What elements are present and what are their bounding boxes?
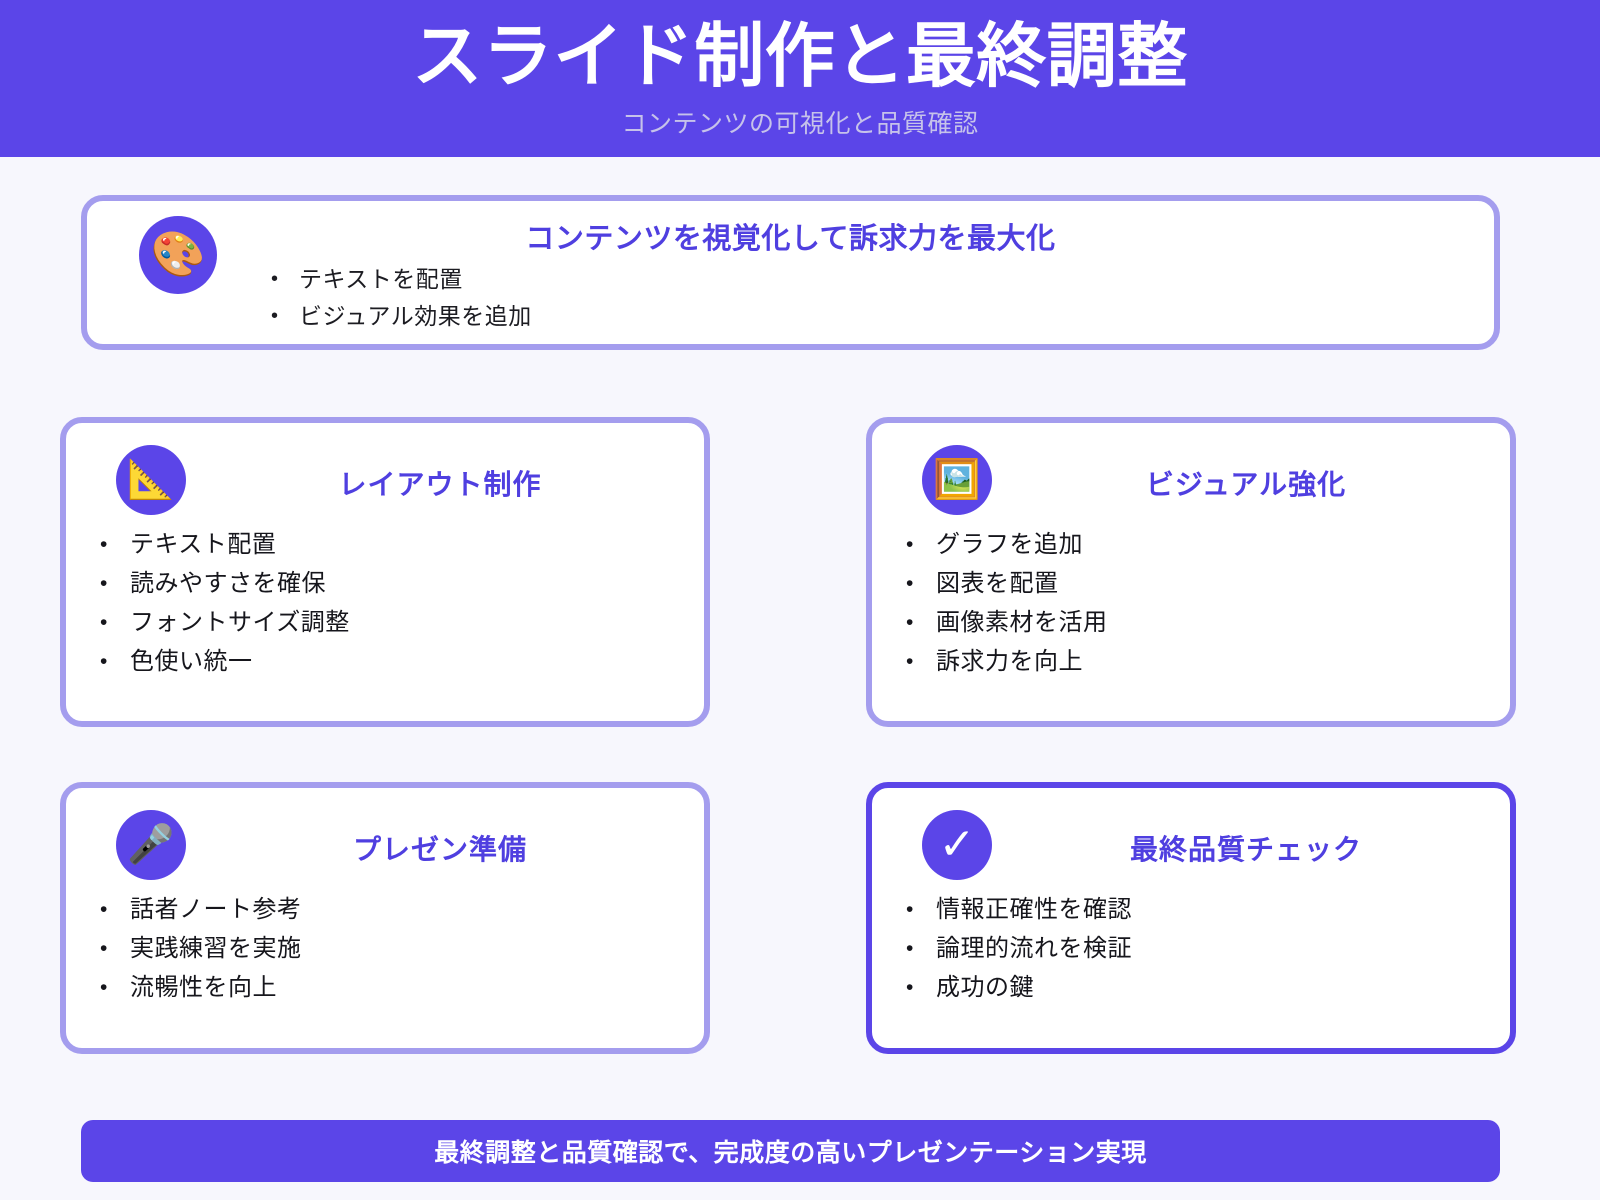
list-item: 読みやすさを確保 <box>92 564 684 603</box>
list-item: 論理的流れを検証 <box>898 929 1490 968</box>
card-presentation-prep-header: 🎤 プレゼン準備 <box>66 788 704 888</box>
page-subtitle: コンテンツの可視化と品質確認 <box>621 104 978 140</box>
list-item: 訴求力を向上 <box>898 642 1490 681</box>
list-item: 流暢性を向上 <box>92 968 684 1007</box>
slide-body: 🎨 コンテンツを視覚化して訴求力を最大化 テキストを配置 ビジュアル効果を追加 … <box>0 157 1600 1200</box>
list-item: 情報正確性を確認 <box>898 890 1490 929</box>
card-layout-design-header: 📐 レイアウト制作 <box>66 423 704 523</box>
check-mark-glyph: ✓ <box>939 823 976 867</box>
card-layout-design[interactable]: 📐 レイアウト制作 テキスト配置 読みやすさを確保 フォントサイズ調整 色使い統… <box>60 417 710 727</box>
summary-card-bullet-list: テキストを配置 ビジュアル効果を追加 <box>267 261 532 335</box>
list-item: テキスト配置 <box>92 525 684 564</box>
card-final-quality-check-header: ✓ 最終品質チェック <box>872 788 1510 888</box>
card-visual-enhancement[interactable]: 🖼️ ビジュアル強化 グラフを追加 図表を配置 画像素材を活用 訴求力を向上 <box>866 417 1516 727</box>
microphone-icon: 🎤 <box>116 810 186 880</box>
summary-card-title: コンテンツを視覚化して訴求力を最大化 <box>87 215 1494 257</box>
card-presentation-prep-title: プレゼン準備 <box>206 828 674 868</box>
card-layout-design-title: レイアウト制作 <box>206 463 674 503</box>
framed-picture-glyph: 🖼️ <box>933 461 980 499</box>
list-item: 実践練習を実施 <box>92 929 684 968</box>
triangular-ruler-glyph: 📐 <box>127 461 174 499</box>
list-item: 話者ノート参考 <box>92 890 684 929</box>
list-item: グラフを追加 <box>898 525 1490 564</box>
list-item: 色使い統一 <box>92 642 684 681</box>
summary-card-header: 🎨 コンテンツを視覚化して訴求力を最大化 <box>87 201 1494 263</box>
framed-picture-icon: 🖼️ <box>922 445 992 515</box>
list-item: 図表を配置 <box>898 564 1490 603</box>
list-item: テキストを配置 <box>267 261 532 298</box>
check-mark-icon: ✓ <box>922 810 992 880</box>
triangular-ruler-icon: 📐 <box>116 445 186 515</box>
page-title: スライド制作と最終調整 <box>412 21 1188 92</box>
list-item: ビジュアル効果を追加 <box>267 298 532 335</box>
slide-root: スライド制作と最終調整 コンテンツの可視化と品質確認 🎨 コンテンツを視覚化して… <box>0 0 1600 1200</box>
summary-card[interactable]: 🎨 コンテンツを視覚化して訴求力を最大化 テキストを配置 ビジュアル効果を追加 <box>81 195 1500 350</box>
card-visual-enhancement-header: 🖼️ ビジュアル強化 <box>872 423 1510 523</box>
card-presentation-prep-bullet-list: 話者ノート参考 実践練習を実施 流暢性を向上 <box>92 890 684 1007</box>
card-final-quality-check[interactable]: ✓ 最終品質チェック 情報正確性を確認 論理的流れを検証 成功の鍵 <box>866 782 1516 1054</box>
card-visual-enhancement-title: ビジュアル強化 <box>1012 463 1480 503</box>
conclusion-banner-text: 最終調整と品質確認で、完成度の高いプレゼンテーション実現 <box>434 1133 1147 1169</box>
card-final-quality-check-bullet-list: 情報正確性を確認 論理的流れを検証 成功の鍵 <box>898 890 1490 1007</box>
slide-header: スライド制作と最終調整 コンテンツの可視化と品質確認 <box>0 0 1600 157</box>
card-visual-enhancement-bullet-list: グラフを追加 図表を配置 画像素材を活用 訴求力を向上 <box>898 525 1490 681</box>
list-item: 画像素材を活用 <box>898 603 1490 642</box>
card-layout-design-bullet-list: テキスト配置 読みやすさを確保 フォントサイズ調整 色使い統一 <box>92 525 684 681</box>
card-presentation-prep[interactable]: 🎤 プレゼン準備 話者ノート参考 実践練習を実施 流暢性を向上 <box>60 782 710 1054</box>
card-final-quality-check-title: 最終品質チェック <box>1012 828 1480 868</box>
microphone-glyph: 🎤 <box>127 826 174 864</box>
list-item: 成功の鍵 <box>898 968 1490 1007</box>
conclusion-banner: 最終調整と品質確認で、完成度の高いプレゼンテーション実現 <box>81 1120 1500 1182</box>
list-item: フォントサイズ調整 <box>92 603 684 642</box>
